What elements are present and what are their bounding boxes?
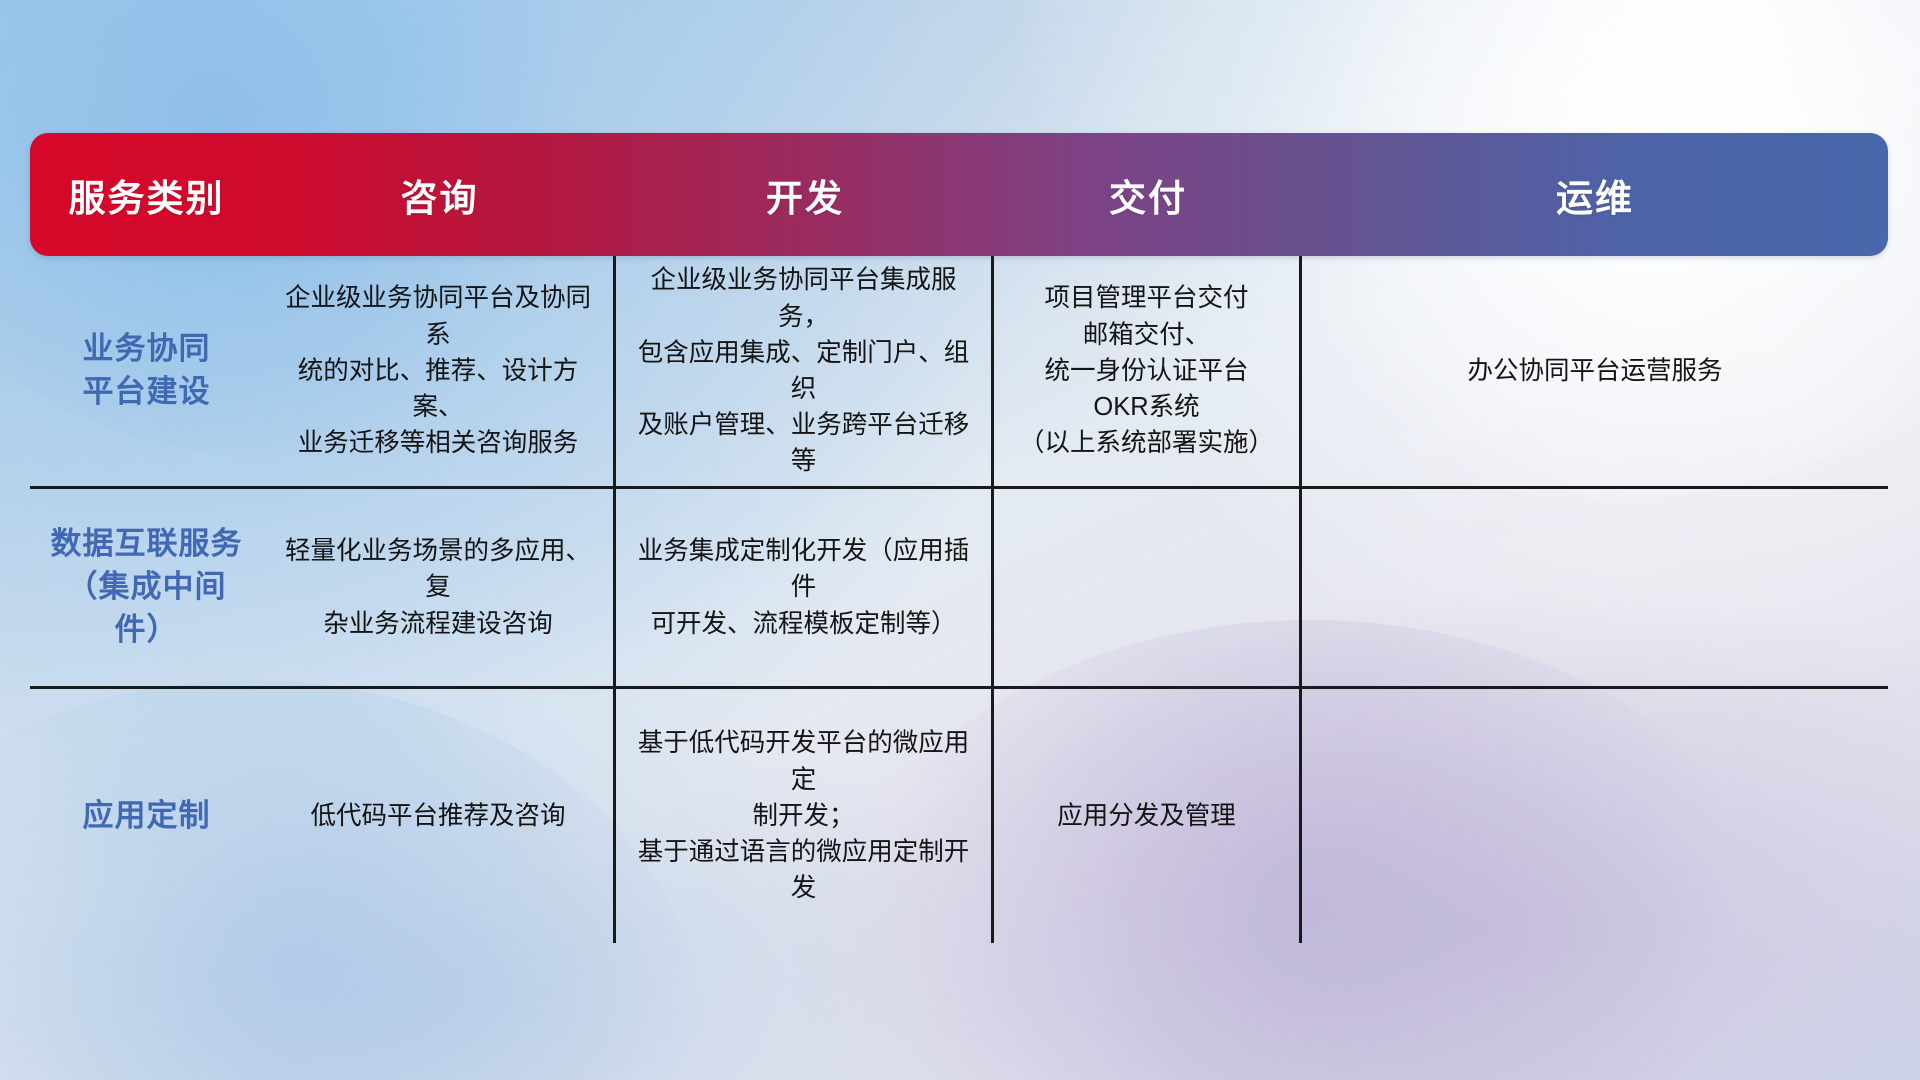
row-category-label: 应用定制 bbox=[30, 689, 263, 943]
service-matrix-table: 服务类别 咨询 开发 交付 运维 业务协同 平台建设 企业级业务协同平台及协同系… bbox=[30, 133, 1888, 953]
cell-consult: 轻量化业务场景的多应用、复 杂业务流程建设咨询 bbox=[263, 489, 616, 686]
table-row: 应用定制 低代码平台推荐及咨询 基于低代码开发平台的微应用定 制开发； 基于通过… bbox=[30, 686, 1888, 943]
cell-operate bbox=[1302, 689, 1888, 943]
cell-develop: 基于低代码开发平台的微应用定 制开发； 基于通过语言的微应用定制开发 bbox=[616, 689, 994, 943]
cell-consult: 企业级业务协同平台及协同系 统的对比、推荐、设计方案、 业务迁移等相关咨询服务 bbox=[263, 256, 616, 486]
cell-operate bbox=[1302, 489, 1888, 686]
table-header-row: 服务类别 咨询 开发 交付 运维 bbox=[30, 133, 1888, 256]
table-row: 业务协同 平台建设 企业级业务协同平台及协同系 统的对比、推荐、设计方案、 业务… bbox=[30, 256, 1888, 486]
cell-deliver: 应用分发及管理 bbox=[994, 689, 1302, 943]
table-row: 数据互联服务 （集成中间件） 轻量化业务场景的多应用、复 杂业务流程建设咨询 业… bbox=[30, 486, 1888, 686]
cell-develop: 业务集成定制化开发（应用插件 可开发、流程模板定制等） bbox=[616, 489, 994, 686]
cell-deliver: 项目管理平台交付 邮箱交付、 统一身份认证平台 OKR系统 （以上系统部署实施） bbox=[994, 256, 1302, 486]
table-body: 业务协同 平台建设 企业级业务协同平台及协同系 统的对比、推荐、设计方案、 业务… bbox=[30, 256, 1888, 943]
row-category-label: 数据互联服务 （集成中间件） bbox=[30, 489, 263, 686]
column-header-consult: 咨询 bbox=[263, 133, 616, 256]
column-header-category: 服务类别 bbox=[30, 133, 263, 256]
column-header-operate: 运维 bbox=[1302, 133, 1888, 256]
cell-develop: 企业级业务协同平台集成服务， 包含应用集成、定制门户、组织 及账户管理、业务跨平… bbox=[616, 256, 994, 486]
cell-operate: 办公协同平台运营服务 bbox=[1302, 256, 1888, 486]
cell-deliver bbox=[994, 489, 1302, 686]
column-header-deliver: 交付 bbox=[994, 133, 1302, 256]
column-header-develop: 开发 bbox=[616, 133, 994, 256]
row-category-label: 业务协同 平台建设 bbox=[30, 256, 263, 486]
cell-consult: 低代码平台推荐及咨询 bbox=[263, 689, 616, 943]
